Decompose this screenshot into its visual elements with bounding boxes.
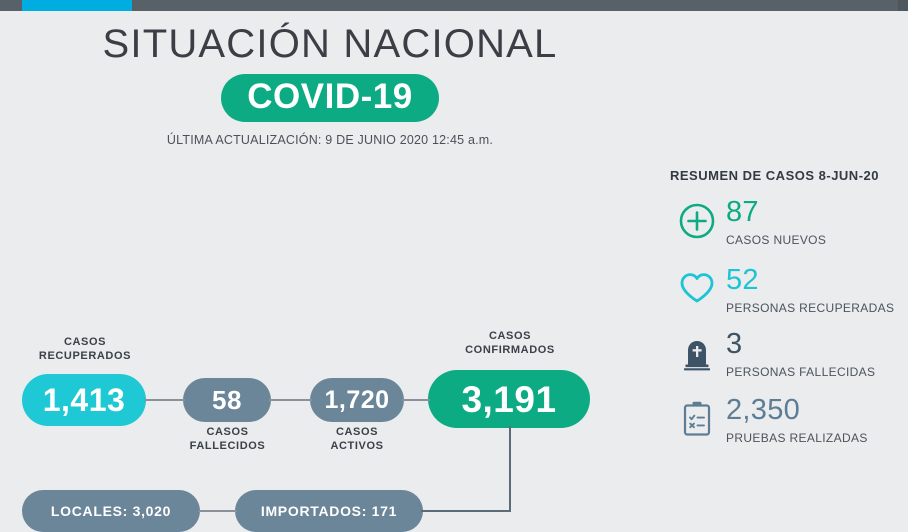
connector-recuperados-fallecidos <box>144 399 185 401</box>
caption-casos-fallecidos: CASOS FALLECIDOS <box>175 426 280 454</box>
summary-stat-body: 2,350 PRUEBAS REALIZADAS <box>726 396 868 445</box>
last-update-text: ÚLTIMA ACTUALIZACIÓN: 9 DE JUNIO 2020 12… <box>0 133 660 147</box>
caption-line-1: CASOS <box>489 330 531 342</box>
stat-value-casos-recuperados: 1,413 <box>43 384 126 416</box>
stat-pill-casos-fallecidos: 58 <box>183 378 271 422</box>
clipboard-icon <box>668 396 726 440</box>
summary-stat-body: 3 PERSONAS FALLECIDAS <box>726 330 875 379</box>
summary-stat-body: 87 CASOS NUEVOS <box>726 198 826 247</box>
summary-stat-label: PRUEBAS REALIZADAS <box>726 431 868 445</box>
covid-badge-wrapper: COVID-19 <box>0 74 660 122</box>
summary-stat-pruebas-realizadas: 2,350 PRUEBAS REALIZADAS <box>668 396 908 464</box>
summary-title: RESUMEN DE CASOS 8-JUN-20 <box>670 168 879 183</box>
caption-casos-confirmados: CASOS CONFIRMADOS <box>437 330 583 358</box>
stat-label-locales: LOCALES: 3,020 <box>51 503 171 519</box>
stat-pill-locales: LOCALES: 3,020 <box>22 490 200 532</box>
top-bar-right-edge <box>898 0 908 11</box>
page-title: SITUACIÓN NACIONAL <box>0 22 660 66</box>
top-bar-accent <box>22 0 132 11</box>
caption-line-2: RECUPERADOS <box>39 350 131 362</box>
caption-casos-recuperados: CASOS RECUPERADOS <box>12 336 158 364</box>
summary-stat-body: 52 PERSONAS RECUPERADAS <box>726 266 894 315</box>
caption-casos-activos: CASOS ACTIVOS <box>308 426 406 454</box>
stat-pill-casos-recuperados: 1,413 <box>22 374 146 426</box>
tombstone-icon <box>668 330 726 372</box>
summary-panel: RESUMEN DE CASOS 8-JUN-20 87 CASOS NUEVO… <box>660 160 908 465</box>
summary-stat-label: PERSONAS FALLECIDAS <box>726 365 875 379</box>
summary-stat-casos-nuevos: 87 CASOS NUEVOS <box>668 198 908 266</box>
summary-stat-label: CASOS NUEVOS <box>726 233 826 247</box>
caption-line-2: FALLECIDOS <box>190 440 266 452</box>
summary-stat-value: 87 <box>726 198 826 227</box>
header: SITUACIÓN NACIONAL COVID-19 ÚLTIMA ACTUA… <box>0 22 660 147</box>
stat-pill-importados: IMPORTADOS: 171 <box>235 490 423 532</box>
summary-stat-value: 3 <box>726 330 875 359</box>
summary-stat-label: PERSONAS RECUPERADAS <box>726 301 894 315</box>
connector-importados-confirmados <box>421 510 511 512</box>
caption-line-2: CONFIRMADOS <box>465 344 555 356</box>
heart-icon <box>668 266 726 306</box>
stat-pill-casos-activos: 1,720 <box>310 378 404 422</box>
covid-badge: COVID-19 <box>221 74 438 122</box>
caption-line-1: CASOS <box>206 426 248 438</box>
summary-stat-personas-fallecidas: 3 PERSONAS FALLECIDAS <box>668 330 908 398</box>
top-bar <box>0 0 908 11</box>
summary-stat-personas-recuperadas: 52 PERSONAS RECUPERADAS <box>668 266 908 334</box>
stat-pill-casos-confirmados: 3,191 <box>428 370 590 428</box>
stat-value-casos-confirmados: 3,191 <box>461 381 556 418</box>
plus-circle-icon <box>668 198 726 240</box>
caption-line-2: ACTIVOS <box>330 440 383 452</box>
stat-label-importados: IMPORTADOS: 171 <box>261 503 397 519</box>
connector-confirmados-down <box>509 426 511 512</box>
stat-value-casos-fallecidos: 58 <box>212 387 242 413</box>
caption-line-1: CASOS <box>64 336 106 348</box>
connector-fallecidos-activos <box>269 399 312 401</box>
summary-stat-value: 2,350 <box>726 396 868 425</box>
stat-value-casos-activos: 1,720 <box>324 388 389 413</box>
connector-activos-confirmados <box>402 399 430 401</box>
caption-line-1: CASOS <box>336 426 378 438</box>
case-flow-diagram: CASOS RECUPERADOS CASOS CONFIRMADOS 1,41… <box>0 160 660 460</box>
summary-stat-value: 52 <box>726 266 894 295</box>
connector-locales-importados <box>198 510 237 512</box>
